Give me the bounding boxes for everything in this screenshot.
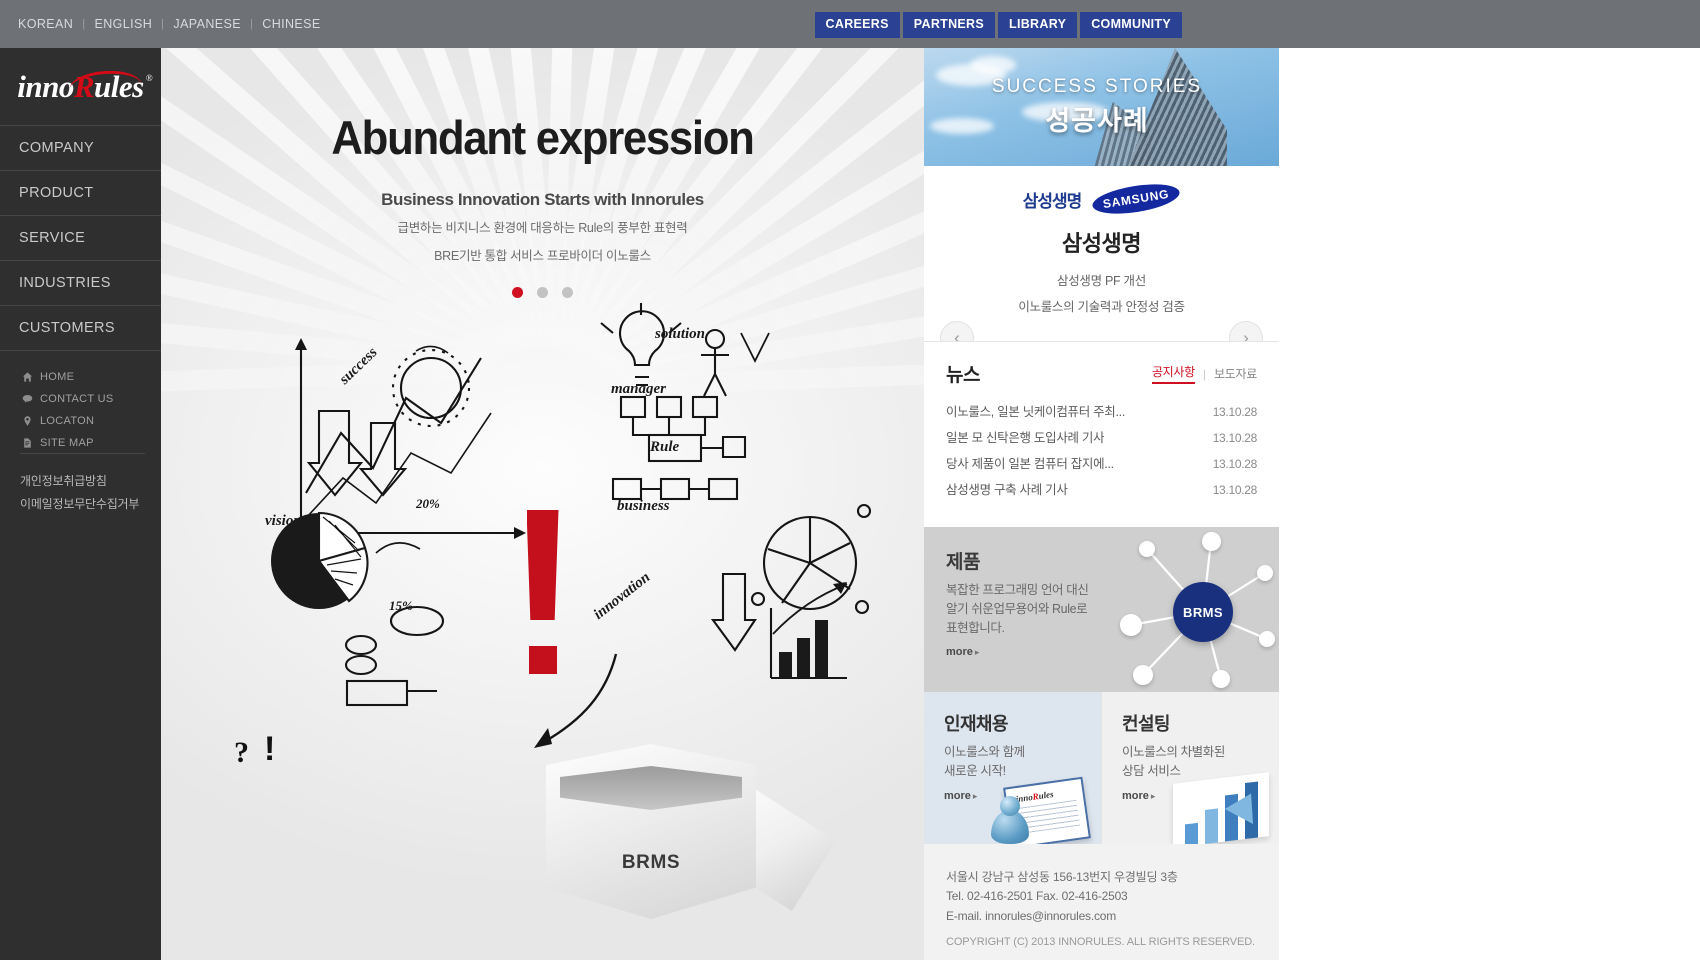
news-list: 이노룰스, 일본 닛케이컴퓨터 주최... 13.10.28 일본 모 신탁은행… — [946, 401, 1257, 498]
network-node — [1259, 631, 1275, 647]
document-icon — [22, 437, 33, 449]
brms-box-graphic: BRMS — [546, 726, 846, 931]
language-link-korean[interactable]: KOREAN — [18, 17, 82, 31]
right-column: SUCCESS STORIES 성공사례 삼성생명 SAMSUNG 삼성생명 삼… — [924, 48, 1279, 960]
library-button[interactable]: LIBRARY — [998, 12, 1077, 38]
news-title: 뉴스 — [946, 360, 980, 387]
exclamation-bar-graphic — [527, 510, 559, 620]
sketch-label-15pct: 15% — [389, 598, 413, 614]
left-sidebar: innoRules ® COMPANY PRODUCT SERVICE INDU… — [0, 48, 161, 960]
box-label: BRMS — [546, 852, 756, 874]
news-item[interactable]: 이노룰스, 일본 닛케이컴퓨터 주최... 13.10.28 — [946, 401, 1257, 420]
box-body-graphic: BRMS — [546, 744, 756, 919]
banner-caption: SUCCESS STORIES 성공사례 — [987, 76, 1207, 138]
box-interior-graphic — [560, 766, 742, 810]
sidebar-item-service[interactable]: SERVICE — [0, 216, 161, 261]
slide-dot-3[interactable] — [562, 287, 573, 298]
news-item-date: 13.10.28 — [1205, 405, 1257, 419]
samsung-logo: SAMSUNG — [1091, 179, 1182, 218]
info-cards: 인재채용 이노룰스와 함께 새로운 시작! more▸ innoRules 컨설… — [924, 692, 1279, 844]
hero-slide-dots — [161, 287, 924, 298]
sidebar-item-customers[interactable]: CUSTOMERS — [0, 306, 161, 351]
hero-desc-line2: BRE기반 통합 서비스 프로바이더 이노룰스 — [161, 247, 924, 266]
product-desc-line2: 알기 쉬운업무용어와 Rule로 — [946, 602, 1087, 616]
footer-address: 서울시 강남구 삼성동 156-13번지 우경빌딩 3층 — [946, 868, 1257, 887]
product-section: 제품 복잡한 프로그래밍 언어 대신 알기 쉬운업무용어와 Rule로 표현합니… — [924, 527, 1279, 692]
site-logo[interactable]: innoRules ® — [0, 48, 161, 126]
news-item-title: 이노룰스, 일본 닛케이컴퓨터 주최... — [946, 401, 1125, 420]
language-switcher: KOREAN | ENGLISH | JAPANESE | CHINESE — [18, 17, 330, 31]
hero-headline: Abundant expression — [188, 110, 898, 165]
card-title: 인재채용 — [944, 710, 1081, 736]
sidebar-quick-links: HOME CONTACT US LOCATON SITE MAP — [0, 351, 161, 449]
sketch-label-innovation: innovation — [591, 569, 654, 623]
sketch-label-vision: vision — [265, 513, 302, 530]
card-desc-line1: 이노룰스와 함께 — [944, 745, 1025, 759]
story-line-2: 이노룰스의 기술력과 안정성 검증 — [924, 296, 1279, 315]
footer-email: E-mail. innorules@innorules.com — [946, 907, 1257, 926]
sidebar-policy-links: 개인정보취급방침 이메일정보무단수집거부 — [20, 453, 145, 518]
sidebar-item-product[interactable]: PRODUCT — [0, 171, 161, 216]
sidebar-item-company[interactable]: COMPANY — [0, 126, 161, 171]
flowchart-doodle-left — [339, 603, 469, 713]
email-collection-refusal-link[interactable]: 이메일정보무단수집거부 — [20, 495, 145, 512]
sketch-label-20pct: 20% — [416, 496, 440, 512]
tab-notice[interactable]: 공지사항 — [1152, 363, 1195, 384]
network-node — [1120, 614, 1142, 636]
quick-link-label: LOCATON — [40, 415, 94, 427]
card-title: 컨설팅 — [1122, 710, 1259, 736]
news-item[interactable]: 삼성생명 구축 사례 기사 13.10.28 — [946, 479, 1257, 498]
exclamation-mark-doodle: ! — [264, 730, 275, 769]
sketch-label-manager: manager — [611, 381, 666, 398]
quick-link-home[interactable]: HOME — [22, 371, 161, 383]
quick-link-label: CONTACT US — [40, 393, 114, 405]
language-link-english[interactable]: ENGLISH — [85, 17, 161, 31]
home-icon — [22, 371, 33, 383]
quick-link-label: SITE MAP — [40, 437, 94, 449]
sketch-label-65pct: 65% — [287, 556, 311, 572]
person-head-illustration — [1000, 796, 1020, 816]
community-button[interactable]: COMMUNITY — [1080, 12, 1182, 38]
network-node — [1139, 541, 1155, 557]
exclamation-dot-graphic — [529, 646, 557, 674]
product-network-graphic: BRMS — [1069, 527, 1279, 692]
utility-nav: CAREERS PARTNERS LIBRARY COMMUNITY — [815, 12, 1182, 38]
news-tabs: 공지사항 | 보도자료 — [1152, 363, 1257, 387]
product-desc-line1: 복잡한 프로그래밍 언어 대신 — [946, 583, 1088, 597]
hero-desc-line1: 급변하는 비지니스 환경에 대응하는 Rule의 풍부한 표현력 — [161, 219, 924, 238]
tab-separator: | — [1203, 367, 1206, 381]
down-arrows-doodle — [301, 403, 411, 513]
speech-bubble-icon — [22, 393, 33, 405]
client-logos: 삼성생명 SAMSUNG — [924, 186, 1279, 212]
more-label: more — [944, 790, 971, 802]
news-item[interactable]: 당사 제품이 일본 컴퓨터 잡지에... 13.10.28 — [946, 453, 1257, 472]
quick-link-site-map[interactable]: SITE MAP — [22, 437, 161, 449]
news-item[interactable]: 일본 모 신탁은행 도입사례 기사 13.10.28 — [946, 427, 1257, 446]
news-item-date: 13.10.28 — [1205, 431, 1257, 445]
hero-text-block: Abundant expression Business Innovation … — [161, 110, 924, 298]
card-desc-line2: 상담 서비스 — [1122, 764, 1181, 778]
network-node — [1133, 665, 1153, 685]
success-story-card: 삼성생명 SAMSUNG 삼성생명 삼성생명 PF 개선 이노룰스의 기술력과 … — [924, 166, 1279, 341]
news-item-date: 13.10.28 — [1205, 457, 1257, 471]
consulting-more-link[interactable]: more▸ — [1122, 790, 1155, 802]
success-stories-banner: SUCCESS STORIES 성공사례 — [924, 48, 1279, 166]
bar-chart-arrow-doodle — [661, 568, 851, 708]
more-label: more — [1122, 790, 1149, 802]
news-item-title: 당사 제품이 일본 컴퓨터 잡지에... — [946, 453, 1114, 472]
cloud-graphic — [930, 118, 994, 134]
privacy-policy-link[interactable]: 개인정보취급방침 — [20, 472, 145, 489]
client-logo-ko: 삼성생명 — [1023, 187, 1082, 212]
recruiting-card[interactable]: 인재채용 이노룰스와 함께 새로운 시작! more▸ innoRules — [924, 692, 1101, 844]
news-item-date: 13.10.28 — [1205, 483, 1257, 497]
slide-dot-1[interactable] — [512, 287, 523, 298]
careers-button[interactable]: CAREERS — [815, 12, 900, 38]
recruiting-more-link[interactable]: more▸ — [944, 790, 977, 802]
chart-bar — [1185, 823, 1198, 844]
card-desc-line1: 이노룰스의 차별화된 — [1122, 745, 1225, 759]
consulting-card[interactable]: 컨설팅 이노룰스의 차별화된 상담 서비스 more▸ — [1101, 692, 1279, 844]
tab-press-release[interactable]: 보도자료 — [1214, 365, 1257, 382]
story-title: 삼성생명 — [924, 226, 1279, 258]
question-mark-doodle: ? — [234, 736, 249, 770]
triangle-right-icon: ▸ — [973, 791, 978, 801]
sketch-label-business: business — [617, 498, 670, 515]
news-header: 뉴스 공지사항 | 보도자료 — [946, 360, 1257, 387]
triangle-right-icon: ▸ — [975, 647, 980, 657]
hero-subline: Business Innovation Starts with Innorule… — [161, 190, 924, 210]
story-line-1: 삼성생명 PF 개선 — [924, 270, 1279, 289]
footer-phone: Tel. 02-416-2501 Fax. 02-416-2503 — [946, 887, 1257, 906]
quick-link-label: HOME — [40, 371, 74, 383]
brms-network-node[interactable]: BRMS — [1173, 582, 1233, 642]
footer: 서울시 강남구 삼성동 156-13번지 우경빌딩 3층 Tel. 02-416… — [924, 844, 1279, 948]
product-desc-line3: 표현합니다. — [946, 621, 1005, 635]
hero-section: Abundant expression Business Innovation … — [161, 48, 924, 960]
cloud-graphic — [970, 56, 1016, 74]
chart-bar — [1205, 808, 1218, 844]
language-link-japanese[interactable]: JAPANESE — [164, 17, 250, 31]
sketch-label-rule: Rule — [650, 439, 679, 456]
top-bar-filler — [1279, 0, 1700, 48]
language-link-chinese[interactable]: CHINESE — [253, 17, 329, 31]
news-item-title: 삼성생명 구축 사례 기사 — [946, 479, 1068, 498]
network-node — [1257, 565, 1273, 581]
triangle-right-icon: ▸ — [1151, 791, 1156, 801]
footer-copyright: COPYRIGHT (C) 2013 INNORULES. ALL RIGHTS… — [946, 936, 1257, 948]
more-label: more — [946, 646, 973, 658]
logo-text-before: inno — [17, 69, 74, 104]
banner-title-en: SUCCESS STORIES — [987, 76, 1207, 98]
sketch-label-solution: solution — [655, 326, 705, 343]
page-right-filler — [1279, 48, 1700, 960]
logo-trademark: ® — [146, 73, 153, 83]
news-section: 뉴스 공지사항 | 보도자료 이노룰스, 일본 닛케이컴퓨터 주최... 13.… — [924, 341, 1279, 527]
card-desc-line2: 새로운 시작! — [944, 764, 1006, 778]
banner-title-ko: 성공사례 — [987, 99, 1207, 138]
quick-link-location[interactable]: LOCATON — [22, 415, 161, 427]
sidebar-item-industries[interactable]: INDUSTRIES — [0, 261, 161, 306]
network-node — [1202, 532, 1221, 551]
card-desc: 이노룰스와 함께 새로운 시작! — [944, 743, 1081, 781]
network-node — [1212, 670, 1230, 688]
product-more-link[interactable]: more▸ — [946, 646, 979, 658]
quick-link-contact-us[interactable]: CONTACT US — [22, 393, 161, 405]
partners-button[interactable]: PARTNERS — [903, 12, 995, 38]
map-pin-icon — [22, 415, 33, 427]
slide-dot-2[interactable] — [537, 287, 548, 298]
news-item-title: 일본 모 신탁은행 도입사례 기사 — [946, 427, 1104, 446]
document-logo: innoRules — [1015, 789, 1054, 804]
